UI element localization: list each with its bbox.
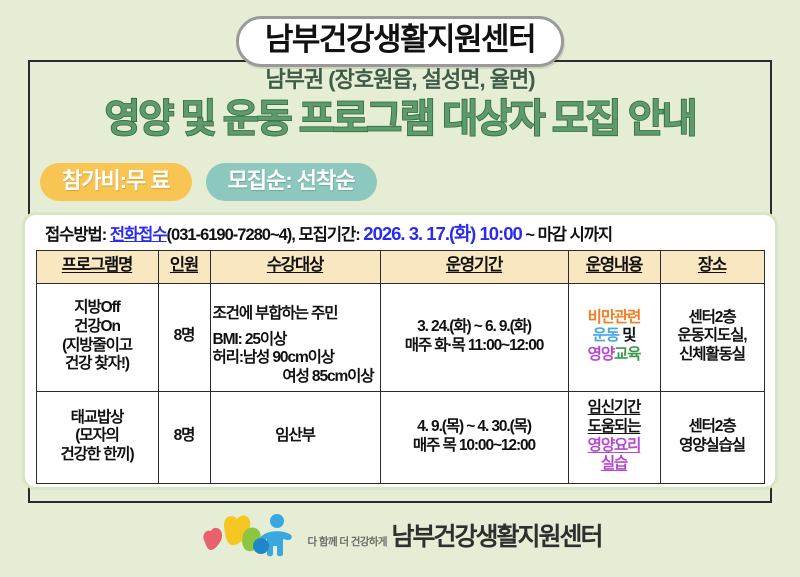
cell-program-name: 태교밥상 (모자의 건강한 한끼) bbox=[36, 391, 158, 483]
pill-participation-fee: 참가비:무 료 bbox=[40, 163, 192, 201]
cell-target: 조건에 부합하는 주민 BMI: 25이상 허리:남성 90cm이상 여성 85… bbox=[210, 283, 380, 391]
cell-place: 센터2층 운동지도실, 신체활동실 bbox=[660, 283, 764, 391]
registration-method-label: 접수방법: bbox=[45, 226, 106, 244]
center-name-badge: 남부건강생활지원센터 bbox=[236, 16, 564, 67]
footer-logo: 다 함께 더 건강하게 남부건강생활지원센터 bbox=[0, 508, 800, 566]
col-header-period: 운영기간 bbox=[380, 250, 568, 283]
table-header-row: 프로그램명 인원 수강대상 운영기간 운영내용 장소 bbox=[36, 250, 764, 283]
region-subtitle: 남부권 (장호원읍, 설성면, 율면) bbox=[28, 66, 772, 95]
col-header-program-name: 프로그램명 bbox=[36, 250, 158, 283]
cell-capacity: 8명 bbox=[158, 391, 210, 483]
cell-place: 센터2층 영양실습실 bbox=[660, 391, 764, 483]
registration-line: 접수방법: 전화접수(031-6190-7280~4), 모집기간: 2026.… bbox=[31, 220, 769, 250]
table-row: 태교밥상 (모자의 건강한 한끼) 8명 임산부 4. 9.(목) ~ 4. 3… bbox=[36, 391, 764, 483]
registration-period-value: 2026. 3. 17.(화) 10:00 bbox=[363, 223, 522, 244]
cell-target: 임산부 bbox=[210, 391, 380, 483]
cell-program-name: 지방Off 건강On (지방줄이고 건강 찾자!) bbox=[36, 283, 158, 391]
page-title: 영양 및 운동 프로그램 대상자 모집 안내 bbox=[28, 98, 772, 142]
header-badge-wrapper: 남부건강생활지원센터 bbox=[0, 16, 800, 67]
logo-center-name: 남부건강생활지원센터 bbox=[391, 523, 601, 551]
registration-method-value: 전화접수 bbox=[110, 226, 167, 244]
program-table: 프로그램명 인원 수강대상 운영기간 운영내용 장소 지방Off 건강On (지… bbox=[36, 250, 765, 484]
info-pills: 참가비:무 료 모집순: 선착순 bbox=[40, 163, 377, 201]
cell-content: 비만관련 운동 및 영양교육 bbox=[568, 283, 660, 391]
cell-capacity: 8명 bbox=[158, 283, 210, 391]
col-header-place: 장소 bbox=[660, 250, 764, 283]
registration-phone: (031-6190-7280~4), bbox=[167, 226, 295, 244]
col-header-target: 수강대상 bbox=[210, 250, 380, 283]
logo-tagline: 다 함께 더 건강하게 bbox=[305, 536, 387, 548]
col-header-content: 운영내용 bbox=[568, 250, 660, 283]
cell-period: 4. 9.(목) ~ 4. 30.(목) 매주 목 10:00~12:00 bbox=[380, 391, 568, 483]
poster-root: { "header": { "center_badge": "남부건강생활지원센… bbox=[0, 0, 800, 577]
cell-content: 임신기간 도움되는 영양요리 실습 bbox=[568, 391, 660, 483]
registration-period-tail: ~ 마감 시까지 bbox=[525, 226, 612, 244]
logo-text-block: 다 함께 더 건강하게 남부건강생활지원센터 bbox=[305, 524, 602, 550]
pill-recruit-order: 모집순: 선착순 bbox=[206, 163, 377, 201]
col-header-capacity: 인원 bbox=[158, 250, 210, 283]
table-row: 지방Off 건강On (지방줄이고 건강 찾자!) 8명 조건에 부합하는 주민… bbox=[36, 283, 764, 391]
details-panel: 접수방법: 전화접수(031-6190-7280~4), 모집기간: 2026.… bbox=[22, 212, 778, 490]
registration-period-label: 모집기간: bbox=[298, 226, 359, 244]
cell-period: 3. 24.(화) ~ 6. 9.(화) 매주 화·목 11:00~12:00 bbox=[380, 283, 568, 391]
headline-block: 남부권 (장호원읍, 설성면, 율면) 영양 및 운동 프로그램 대상자 모집 … bbox=[28, 66, 772, 141]
center-logo-icon bbox=[199, 508, 295, 566]
